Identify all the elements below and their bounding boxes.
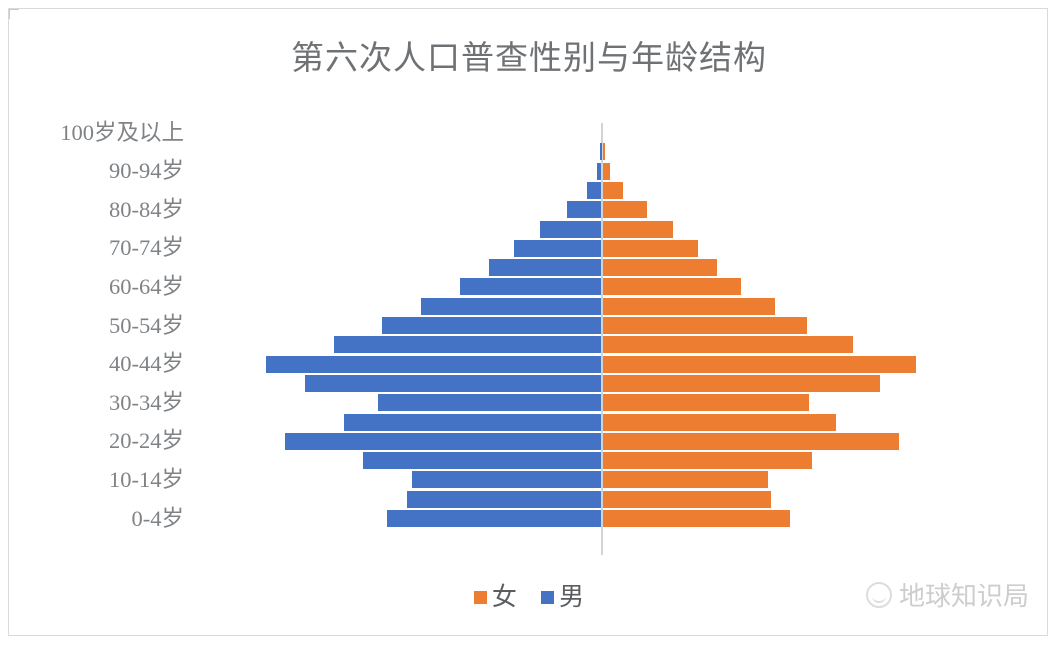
legend-item-female[interactable]: 女: [474, 577, 517, 613]
corner-crop-mark: [9, 9, 19, 19]
bar-female[interactable]: [603, 510, 790, 527]
watermark-text: 地球知识局: [899, 576, 1029, 613]
pyramid-row: [9, 451, 1049, 470]
bar-female[interactable]: [603, 491, 771, 508]
pyramid-row: [9, 316, 1049, 335]
pyramid-row: [9, 432, 1049, 451]
pyramid-row: [9, 123, 1049, 142]
pyramid-row: [9, 490, 1049, 509]
pyramid-row: [9, 297, 1049, 316]
bar-male[interactable]: [305, 375, 601, 392]
pyramid-row: [9, 277, 1049, 296]
pyramid-row: [9, 220, 1049, 239]
bar-female[interactable]: [603, 201, 647, 218]
bar-male[interactable]: [460, 278, 601, 295]
population-pyramid-plot: [9, 113, 1049, 558]
bar-female[interactable]: [603, 259, 717, 276]
bar-female[interactable]: [603, 375, 880, 392]
bar-female[interactable]: [603, 336, 853, 353]
legend-swatch-female-icon: [474, 591, 487, 604]
bar-female[interactable]: [603, 298, 775, 315]
bar-male[interactable]: [597, 163, 601, 180]
pyramid-row: [9, 258, 1049, 277]
bar-male[interactable]: [382, 317, 601, 334]
bar-female[interactable]: [603, 317, 807, 334]
chart-frame: 第六次人口普查性别与年龄结构 0-4岁10-14岁20-24岁30-34岁40-…: [8, 8, 1048, 636]
pyramid-row: [9, 413, 1049, 432]
pyramid-row: [9, 335, 1049, 354]
bar-female[interactable]: [603, 471, 768, 488]
chart-title: 第六次人口普查性别与年龄结构: [9, 31, 1049, 79]
bar-male[interactable]: [387, 510, 601, 527]
legend-item-male[interactable]: 男: [541, 577, 584, 613]
bar-female[interactable]: [603, 163, 610, 180]
globe-circle-icon: [866, 582, 892, 608]
bar-female[interactable]: [603, 182, 623, 199]
pyramid-row: [9, 181, 1049, 200]
legend-swatch-male-icon: [541, 591, 554, 604]
bar-female[interactable]: [603, 394, 809, 411]
bar-female[interactable]: [603, 221, 673, 238]
bar-male[interactable]: [378, 394, 601, 411]
pyramid-row: [9, 200, 1049, 219]
bar-male[interactable]: [407, 491, 601, 508]
bar-female[interactable]: [603, 452, 812, 469]
legend-label-male: 男: [559, 577, 584, 613]
bar-male[interactable]: [540, 221, 601, 238]
bar-male[interactable]: [285, 433, 601, 450]
bar-male[interactable]: [587, 182, 601, 199]
bar-male[interactable]: [514, 240, 601, 257]
bar-male[interactable]: [421, 298, 601, 315]
bar-male[interactable]: [334, 336, 601, 353]
bar-male[interactable]: [412, 471, 601, 488]
bar-male[interactable]: [266, 356, 601, 373]
pyramid-row: [9, 355, 1049, 374]
bar-female[interactable]: [603, 433, 899, 450]
bar-female[interactable]: [603, 414, 836, 431]
pyramid-row: [9, 142, 1049, 161]
bar-female[interactable]: [603, 143, 605, 160]
watermark: 地球知识局: [866, 576, 1029, 613]
bar-male[interactable]: [489, 259, 601, 276]
pyramid-row: [9, 374, 1049, 393]
bar-female[interactable]: [603, 278, 741, 295]
bar-female[interactable]: [603, 240, 698, 257]
bar-male[interactable]: [363, 452, 601, 469]
pyramid-row: [9, 239, 1049, 258]
bar-male[interactable]: [600, 143, 602, 160]
pyramid-row: [9, 509, 1049, 528]
pyramid-row: [9, 162, 1049, 181]
bar-male[interactable]: [344, 414, 601, 431]
pyramid-row: [9, 393, 1049, 412]
pyramid-row: [9, 470, 1049, 489]
bar-female[interactable]: [603, 356, 916, 373]
bar-male[interactable]: [567, 201, 601, 218]
legend-label-female: 女: [492, 577, 517, 613]
